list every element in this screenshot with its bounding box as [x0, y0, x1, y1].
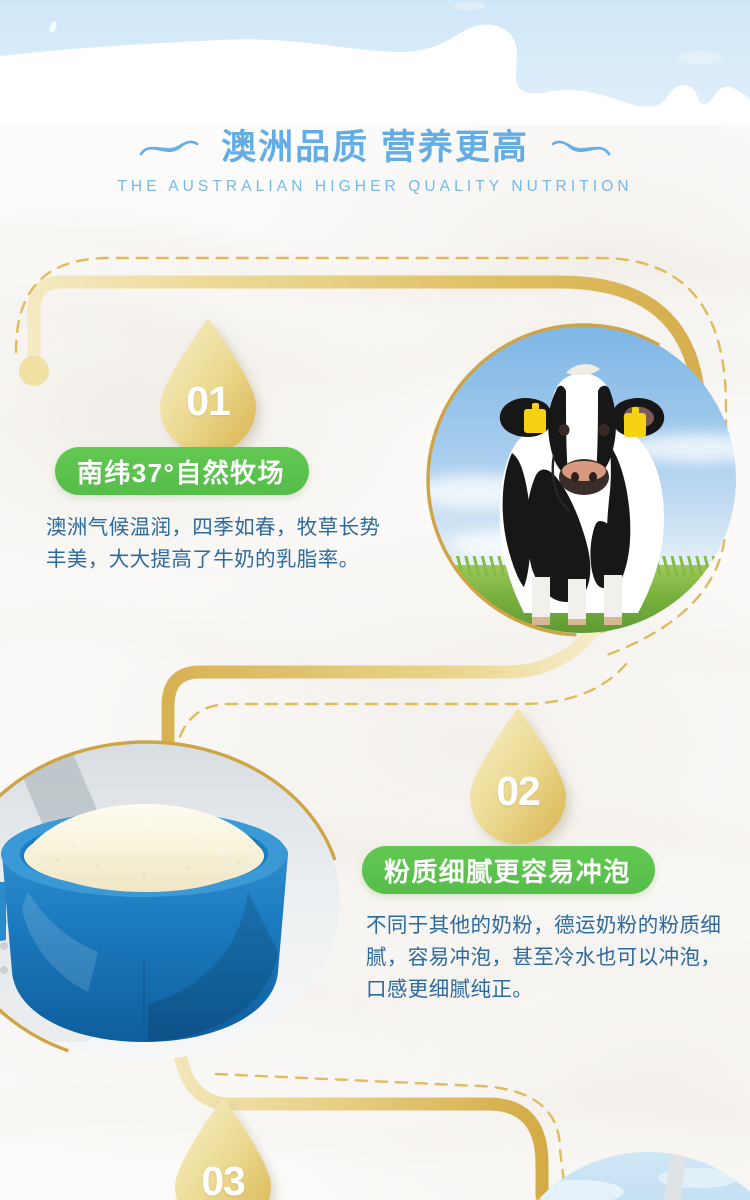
step-number-01: 01 [160, 378, 256, 425]
step-number-badge-03: 03 [175, 1098, 271, 1200]
section-body-02: 不同于其他的奶粉，德运奶粉的粉质细腻，容易冲泡，甚至冷水也可以冲泡，口感更细腻纯… [366, 910, 726, 1006]
step-number-badge-02: 02 [470, 708, 566, 833]
gold-dot-start [19, 356, 49, 386]
section-body-01: 澳洲气候温润，四季如春，牧草长势丰美，大大提高了牛奶的乳脂率。 [46, 512, 396, 576]
promo-page: 澳洲品质 营养更高 THE AUSTRALIAN HIGHER QUALITY … [0, 0, 750, 1200]
section-badge-02: 粉质细腻更容易冲泡 [362, 846, 655, 894]
step-number-03: 03 [175, 1158, 271, 1200]
section-badge-label-01: 南纬37°自然牧场 [77, 453, 285, 490]
gold-ring-arc-cow [420, 317, 746, 643]
section-badge-01: 南纬37°自然牧场 [55, 447, 309, 495]
section-badge-label-02: 粉质细腻更容易冲泡 [384, 852, 631, 889]
step-number-badge-01: 01 [160, 318, 256, 443]
gold-ring-arc-bowl [0, 738, 348, 1068]
step-number-02: 02 [470, 768, 566, 815]
